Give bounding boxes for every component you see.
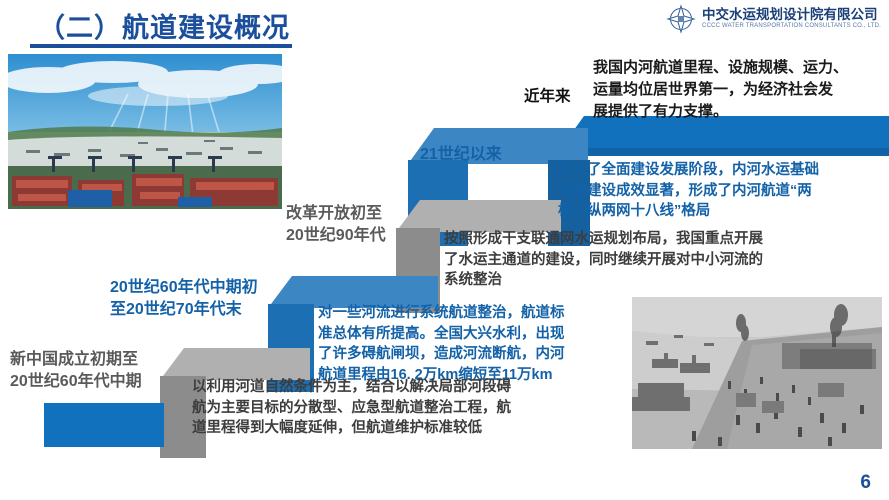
- era-label-stage-1: 新中国成立初期至 20世纪60年代中期: [10, 349, 200, 392]
- body-text-stage-5: 我国内河航道里程、设施规模、运力、 运量均位居世界第一，为经济社会发 展提供了有…: [593, 57, 885, 122]
- logo-text-block: 中交水运规划设计院有限公司 CCCC WATER TRANSPORTATION …: [702, 8, 881, 30]
- body-text-stage-4: 步入了全面建设发展阶段，内河水运基础 设施建设成效显著，形成了内河航道“两 横一…: [558, 160, 888, 222]
- era-label-stage-5: 近年来: [524, 84, 571, 106]
- page-title: （二）航道建设概况: [38, 6, 290, 45]
- body-text-stage-3: 按照形成干支联通网水运规划布局，我国重点开展 了水运主通道的建设，同时继续开展对…: [444, 229, 884, 291]
- logo-english-name: CCCC WATER TRANSPORTATION CONSULTANTS CO…: [702, 23, 881, 30]
- compass-logo-icon: [666, 4, 696, 34]
- logo-chinese-name: 中交水运规划设计院有限公司: [702, 8, 881, 23]
- page-number: 6: [860, 472, 871, 494]
- modern-port-photo: [8, 54, 282, 209]
- slide-canvas: （二）航道建设概况 中交水运规划设计院有限公司 CCCC WATER TRANS…: [0, 0, 889, 500]
- era-label-stage-3: 改革开放初至 20世纪90年代: [286, 203, 426, 246]
- era-label-stage-2: 20世纪60年代中期初 至20世纪70年代末: [110, 277, 310, 320]
- historic-port-photo: [632, 297, 882, 449]
- body-text-stage-1: 以利用河道自然条件为主，结合以解决局部河段碍 航为主要目标的分散型、应急型航道整…: [192, 377, 632, 439]
- step-front-stage-5: [558, 148, 889, 156]
- era-label-stage-4: 21世纪以来: [420, 144, 550, 166]
- title-underline: [30, 44, 292, 48]
- body-text-stage-2: 对一些河流进行系统航道整治，航道标 准总体有所提高。全国大兴水利，出现 了许多碍…: [318, 303, 598, 385]
- company-logo: 中交水运规划设计院有限公司 CCCC WATER TRANSPORTATION …: [666, 4, 881, 34]
- stair-base-block: [44, 403, 164, 447]
